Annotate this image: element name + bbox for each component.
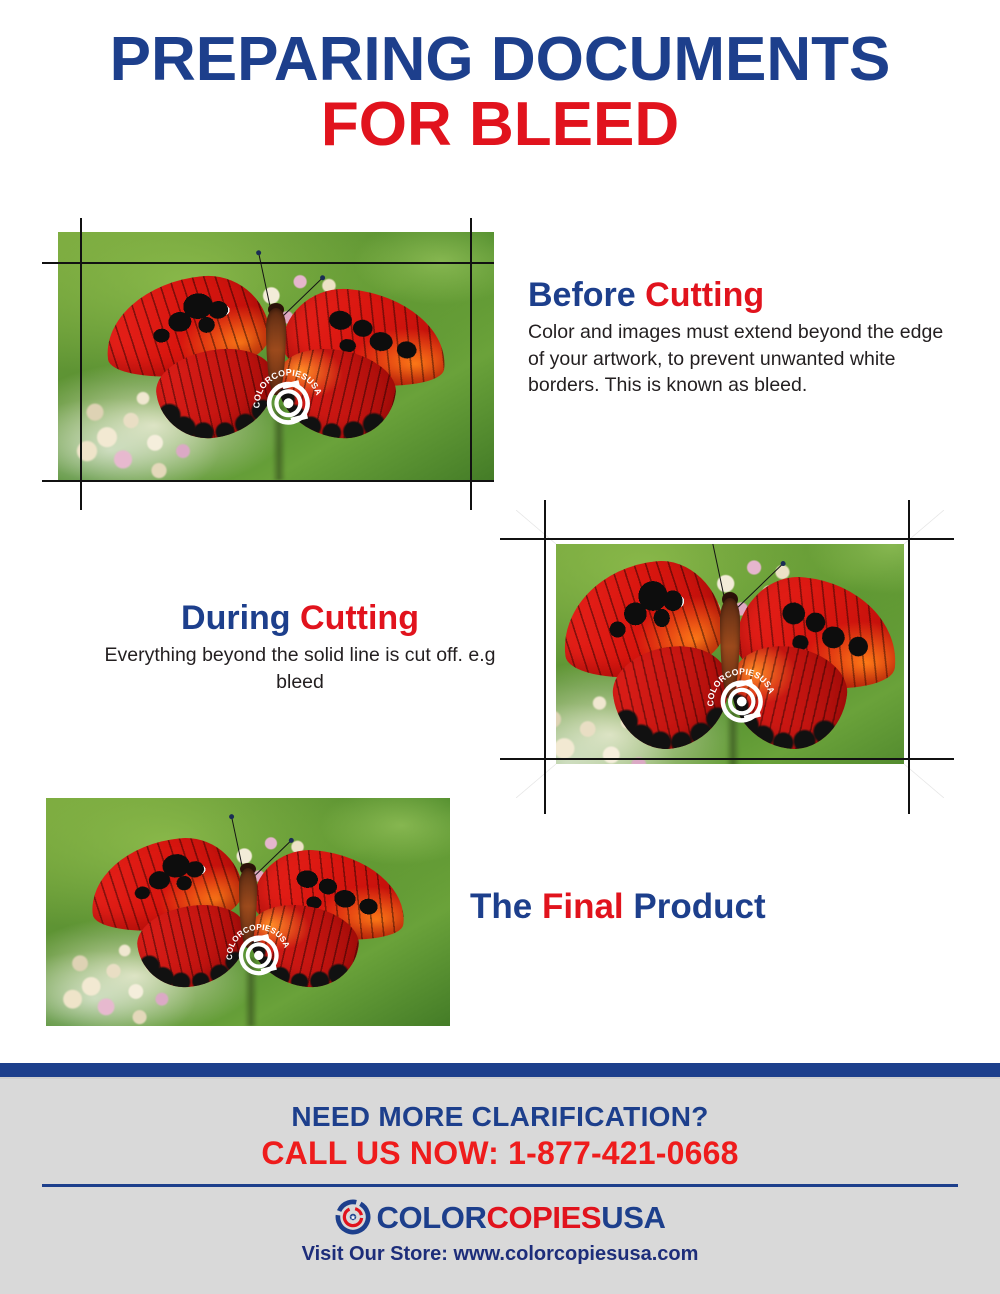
crop-mark-top: [42, 262, 494, 264]
colorcopiesusa-logo-icon: [335, 1199, 371, 1235]
footer-visit-store[interactable]: Visit Our Store: www.colorcopiesusa.com: [0, 1243, 1000, 1266]
crop-mark-left: [544, 500, 546, 814]
butterfly: COLORCOPIESUSA: [86, 830, 409, 1003]
infographic-page: PREPARING DOCUMENTS FOR BLEED: [0, 0, 1000, 1294]
artwork-final: COLORCOPIESUSA: [46, 798, 450, 1026]
before-cutting-heading: Before Cutting: [528, 277, 948, 314]
final-product-figure: COLORCOPIESUSA: [46, 798, 450, 1026]
section-before-cutting: Before Cutting Color and images must ext…: [528, 277, 948, 398]
section-final-product: The Final Product: [470, 888, 870, 927]
crop-mark-right: [470, 218, 472, 510]
title-line-1: PREPARING DOCUMENTS: [0, 28, 1000, 91]
page-title: PREPARING DOCUMENTS FOR BLEED: [0, 28, 1000, 156]
logo-word-copies: COPIES: [486, 1200, 601, 1235]
during-heading-word-2: Cutting: [300, 599, 419, 637]
crop-mark-bottom: [42, 480, 494, 482]
logo-wordmark: COLORCOPIESUSA: [377, 1202, 666, 1233]
before-cutting-body: Color and images must extend beyond the …: [528, 319, 948, 397]
butterfly: COLORCOPIESUSA: [102, 267, 451, 455]
footer: NEED MORE CLARIFICATION? CALL US NOW: 1-…: [0, 1077, 1000, 1294]
crop-mark-left: [80, 218, 82, 510]
footer-call-us-now[interactable]: CALL US NOW: 1-877-421-0668: [0, 1135, 1000, 1172]
crop-mark-top: [500, 538, 954, 540]
during-cutting-body: Everything beyond the solid line is cut …: [100, 642, 500, 694]
footer-divider: [42, 1184, 958, 1187]
artwork-before: COLORCOPIESUSA: [58, 232, 494, 480]
artwork-during: COLORCOPIESUSA: [516, 510, 944, 798]
section-during-cutting: During Cutting Everything beyond the sol…: [100, 600, 500, 695]
before-cutting-figure: COLORCOPIESUSA: [58, 218, 514, 510]
during-cutting-heading: During Cutting: [100, 600, 500, 637]
during-heading-word-1: During: [181, 599, 291, 637]
footer-logo[interactable]: COLORCOPIESUSA: [0, 1199, 1000, 1235]
final-heading-word-1: The: [470, 887, 532, 926]
before-heading-word-1: Before: [528, 276, 636, 314]
final-heading-word-2: Final: [542, 887, 624, 926]
crop-mark-right: [908, 500, 910, 814]
final-heading-word-3: Product: [633, 887, 765, 926]
logo-word-usa: USA: [601, 1200, 665, 1235]
footer-need-more-clarification: NEED MORE CLARIFICATION?: [0, 1101, 1000, 1133]
during-cutting-figure: COLORCOPIESUSA: [508, 500, 960, 814]
logo-word-color: COLOR: [377, 1200, 487, 1235]
footer-top-bar: [0, 1063, 1000, 1077]
title-line-2: FOR BLEED: [0, 93, 1000, 156]
crop-mark-bottom: [500, 758, 954, 760]
butterfly: COLORCOPIESUSA: [559, 550, 901, 769]
before-heading-word-2: Cutting: [645, 276, 764, 314]
final-product-heading: The Final Product: [470, 888, 870, 927]
